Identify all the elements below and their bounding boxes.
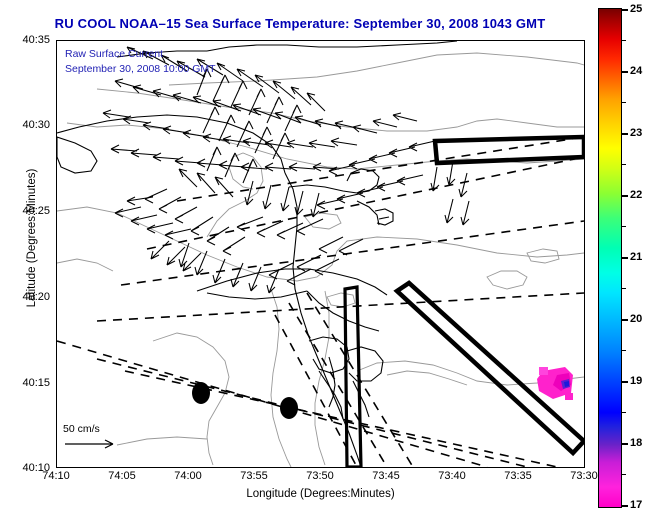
colorbar-tick-label: 25 — [630, 3, 642, 15]
x-tick-label: 73:40 — [438, 470, 466, 482]
bathymetry-contours — [57, 53, 584, 467]
y-tick-label: 40:20 — [50, 291, 78, 303]
map-plot-area: Raw Surface Current September 30, 2008 1… — [56, 40, 585, 468]
temperature-colorbar — [598, 8, 622, 508]
current-annotation: Raw Surface Current September 30, 2008 1… — [65, 47, 216, 77]
x-tick-label: 73:55 — [240, 470, 268, 482]
sst-data-patch — [537, 367, 573, 400]
y-tick-label: 40:15 — [50, 377, 78, 389]
annotation-line-2: September 30, 2008 10:00 GMT — [65, 62, 216, 77]
annotation-line-1: Raw Surface Current — [65, 47, 216, 62]
scale-bar-label: 50 cm/s — [63, 423, 155, 435]
y-tick-label: 40:25 — [50, 205, 78, 217]
y-tick-label: 40:35 — [50, 34, 78, 46]
surface-current-vectors — [103, 47, 469, 293]
colorbar-tick-label: 20 — [630, 313, 642, 325]
x-tick-label: 73:35 — [504, 470, 532, 482]
x-tick-label: 74:00 — [174, 470, 202, 482]
colorbar-tick-label: 21 — [630, 251, 642, 263]
station-markers — [192, 382, 298, 419]
page-title: RU COOL NOAA–15 Sea Surface Temperature:… — [0, 16, 600, 31]
x-tick-label: 73:45 — [372, 470, 400, 482]
x-tick-label: 73:50 — [306, 470, 334, 482]
map-graphic — [57, 41, 584, 467]
colorbar-tick-label: 22 — [630, 189, 642, 201]
x-axis-label: Longitude (Degrees:Minutes) — [56, 488, 585, 500]
y-tick-label: 40:10 — [50, 462, 78, 474]
y-axis-label: Latitude (Degrees:Minutes) — [26, 118, 38, 358]
x-tick-label: 73:30 — [570, 470, 598, 482]
x-tick-label: 74:05 — [108, 470, 136, 482]
coastline — [57, 41, 457, 467]
velocity-scale-bar: 50 cm/s — [63, 423, 155, 451]
colorbar-tick-label: 17 — [630, 499, 642, 511]
colorbar-tick-label: 24 — [630, 65, 642, 77]
colorbar-tick-label: 23 — [630, 127, 642, 139]
y-tick-label: 40:30 — [50, 119, 78, 131]
colorbar-tick-label: 18 — [630, 437, 642, 449]
colorbar-tick-label: 19 — [630, 375, 642, 387]
scale-arrow-icon — [63, 437, 123, 451]
